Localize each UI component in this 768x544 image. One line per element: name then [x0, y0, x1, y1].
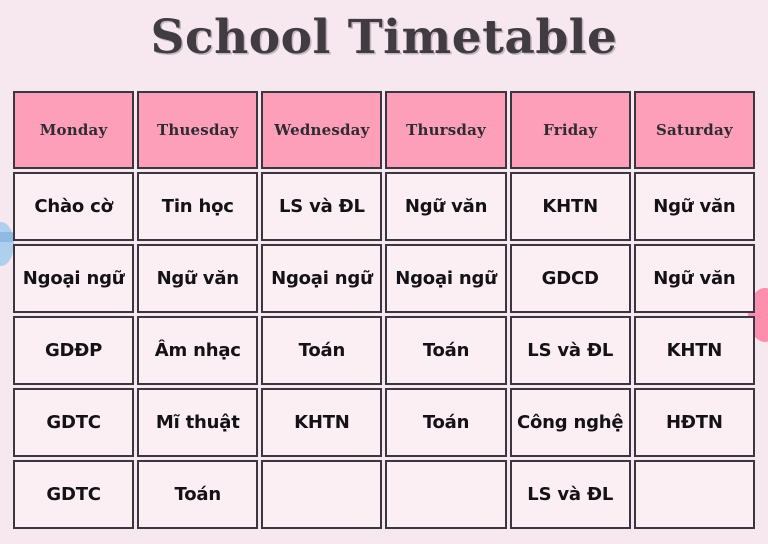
column-header-thursday: Thursday: [385, 91, 506, 169]
table-row: GDTCToánLS và ĐL: [13, 460, 755, 529]
subject-cell: GDTC: [13, 460, 134, 529]
subject-cell: KHTN: [261, 388, 382, 457]
timetable: MondayThuesdayWednesdayThursdayFridaySat…: [10, 88, 758, 532]
subject-cell: Toán: [261, 316, 382, 385]
subject-cell: LS và ĐL: [261, 172, 382, 241]
subject-cell: LS và ĐL: [510, 460, 631, 529]
subject-cell: GDĐP: [13, 316, 134, 385]
subject-cell: Chào cờ: [13, 172, 134, 241]
subject-cell: Ngoại ngữ: [385, 244, 506, 313]
subject-cell: KHTN: [634, 316, 755, 385]
empty-cell: [634, 460, 755, 529]
empty-cell: [261, 460, 382, 529]
page-title: School Timetable: [0, 0, 768, 61]
subject-cell: Toán: [385, 388, 506, 457]
subject-cell: Âm nhạc: [137, 316, 258, 385]
subject-cell: Tin học: [137, 172, 258, 241]
subject-cell: Công nghệ: [510, 388, 631, 457]
subject-cell: Ngữ văn: [385, 172, 506, 241]
column-header-monday: Monday: [13, 91, 134, 169]
table-row: Ngoại ngữNgữ vănNgoại ngữNgoại ngữGDCDNg…: [13, 244, 755, 313]
subject-cell: Ngoại ngữ: [13, 244, 134, 313]
timetable-body: Chào cờTin họcLS và ĐLNgữ vănKHTNNgữ văn…: [13, 172, 755, 529]
subject-cell: KHTN: [510, 172, 631, 241]
table-row: Chào cờTin họcLS và ĐLNgữ vănKHTNNgữ văn: [13, 172, 755, 241]
column-header-wednesday: Wednesday: [261, 91, 382, 169]
table-row: GDĐPÂm nhạcToánToánLS và ĐLKHTN: [13, 316, 755, 385]
subject-cell: Ngoại ngữ: [261, 244, 382, 313]
column-header-saturday: Saturday: [634, 91, 755, 169]
subject-cell: Mĩ thuật: [137, 388, 258, 457]
subject-cell: Toán: [385, 316, 506, 385]
subject-cell: LS và ĐL: [510, 316, 631, 385]
subject-cell: GDCD: [510, 244, 631, 313]
column-header-friday: Friday: [510, 91, 631, 169]
timetable-header: MondayThuesdayWednesdayThursdayFridaySat…: [13, 91, 755, 169]
table-row: GDTCMĩ thuậtKHTNToánCông nghệHĐTN: [13, 388, 755, 457]
subject-cell: GDTC: [13, 388, 134, 457]
subject-cell: Ngữ văn: [634, 244, 755, 313]
header-row: MondayThuesdayWednesdayThursdayFridaySat…: [13, 91, 755, 169]
subject-cell: Ngữ văn: [137, 244, 258, 313]
empty-cell: [385, 460, 506, 529]
subject-cell: Toán: [137, 460, 258, 529]
subject-cell: HĐTN: [634, 388, 755, 457]
column-header-thuesday: Thuesday: [137, 91, 258, 169]
subject-cell: Ngữ văn: [634, 172, 755, 241]
